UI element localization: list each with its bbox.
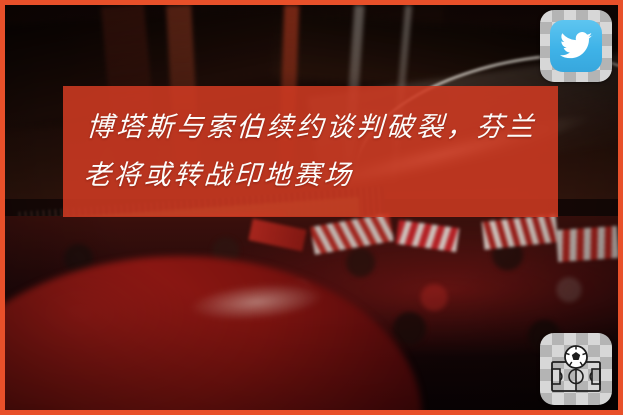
article-image-card: 博塔斯与索伯续约谈判破裂，芬兰老将或转战印地赛场 xyxy=(0,0,623,415)
headline-banner: 博塔斯与索伯续约谈判破裂，芬兰老将或转战印地赛场 xyxy=(63,86,558,217)
supporter-flag xyxy=(556,226,618,263)
football-topic-badge[interactable] xyxy=(540,333,612,405)
football-pitch-icon xyxy=(548,343,604,395)
twitter-tile xyxy=(550,20,602,72)
headline-title: 博塔斯与索伯续约谈判破裂，芬兰老将或转战印地赛场 xyxy=(82,104,538,200)
twitter-bird-icon xyxy=(559,32,593,60)
twitter-share-badge[interactable] xyxy=(540,10,612,82)
